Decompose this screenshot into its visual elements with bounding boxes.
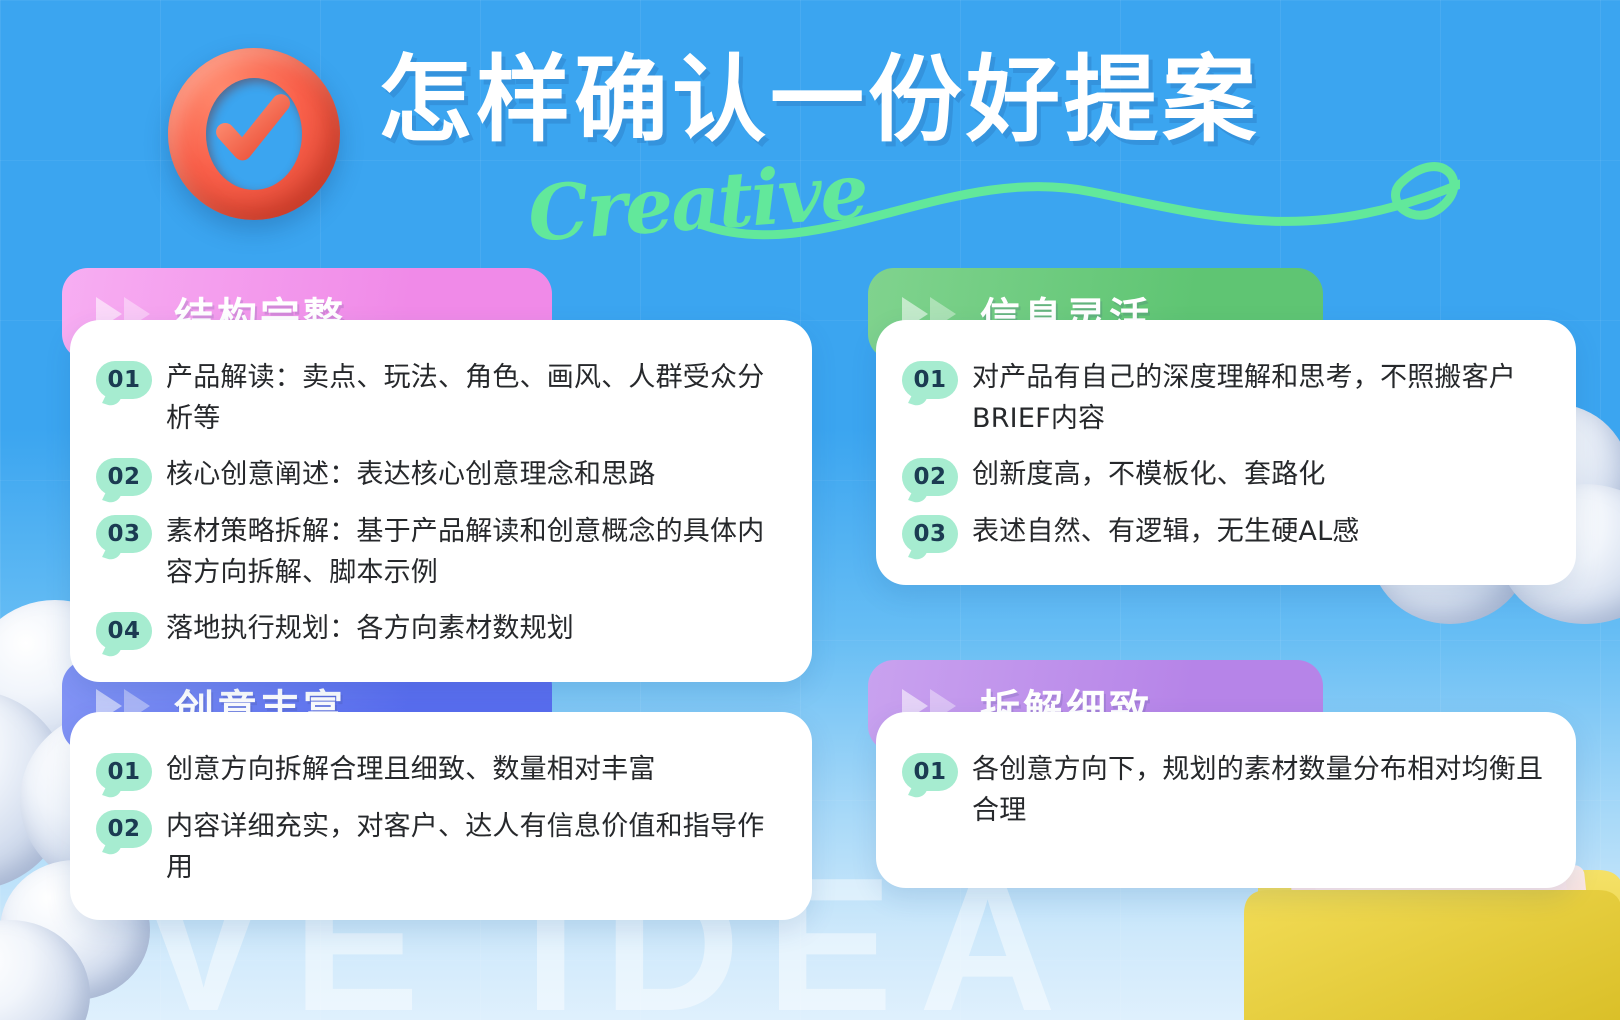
item-text: 表述自然、有逻辑，无生硬AL感 — [972, 512, 1360, 553]
item-number-badge: 03 — [902, 515, 958, 553]
item-text: 创新度高，不模板化、套路化 — [972, 455, 1326, 496]
card-detail-body: 01 各创意方向下，规划的素材数量分布相对均衡且合理 — [876, 712, 1576, 888]
item-number-badge: 01 — [96, 361, 152, 399]
item-text: 内容详细充实，对客户、达人有信息价值和指导作用 — [166, 807, 786, 888]
item-text: 落地执行规划：各方向素材数规划 — [166, 609, 574, 650]
item-number-badge: 02 — [902, 458, 958, 496]
item-text: 创意方向拆解合理且细致、数量相对丰富 — [166, 750, 656, 791]
item-text: 各创意方向下，规划的素材数量分布相对均衡且合理 — [972, 750, 1550, 831]
creative-script-text: Creative — [525, 146, 869, 258]
poster-canvas: VE IDEA — [0, 0, 1620, 1020]
list-item: 01 产品解读：卖点、玩法、角色、画风、人群受众分析等 — [96, 358, 786, 439]
page-title: 怎样确认一份好提案 — [378, 52, 1260, 151]
item-text: 核心创意阐述：表达核心创意理念和思路 — [166, 455, 656, 496]
list-item: 01 各创意方向下，规划的素材数量分布相对均衡且合理 — [902, 750, 1550, 831]
list-item: 03 表述自然、有逻辑，无生硬AL感 — [902, 512, 1550, 553]
item-number-badge: 02 — [96, 810, 152, 848]
poster-header: 怎样确认一份好提案 Creative — [0, 0, 1620, 250]
item-number-badge: 01 — [902, 753, 958, 791]
card-structure-body: 01 产品解读：卖点、玩法、角色、画风、人群受众分析等 02 核心创意阐述：表达… — [70, 320, 812, 682]
item-number-badge: 01 — [902, 361, 958, 399]
item-number-badge: 02 — [96, 458, 152, 496]
card-info-body: 01 对产品有自己的深度理解和思考，不照搬客户BRIEF内容 02 创新度高，不… — [876, 320, 1576, 585]
list-item: 03 素材策略拆解：基于产品解读和创意概念的具体内容方向拆解、脚本示例 — [96, 512, 786, 593]
list-item: 02 内容详细充实，对客户、达人有信息价值和指导作用 — [96, 807, 786, 888]
item-text: 产品解读：卖点、玩法、角色、画风、人群受众分析等 — [166, 358, 786, 439]
item-number-badge: 03 — [96, 515, 152, 553]
list-item: 01 对产品有自己的深度理解和思考，不照搬客户BRIEF内容 — [902, 358, 1550, 439]
check-badge-icon — [168, 48, 340, 220]
list-item: 01 创意方向拆解合理且细致、数量相对丰富 — [96, 750, 786, 791]
list-item: 02 核心创意阐述：表达核心创意理念和思路 — [96, 455, 786, 496]
list-item: 02 创新度高，不模板化、套路化 — [902, 455, 1550, 496]
item-number-badge: 04 — [96, 612, 152, 650]
item-number-badge: 01 — [96, 753, 152, 791]
item-text: 素材策略拆解：基于产品解读和创意概念的具体内容方向拆解、脚本示例 — [166, 512, 786, 593]
card-creative-body: 01 创意方向拆解合理且细致、数量相对丰富 02 内容详细充实，对客户、达人有信… — [70, 712, 812, 920]
list-item: 04 落地执行规划：各方向素材数规划 — [96, 609, 786, 650]
item-text: 对产品有自己的深度理解和思考，不照搬客户BRIEF内容 — [972, 358, 1550, 439]
